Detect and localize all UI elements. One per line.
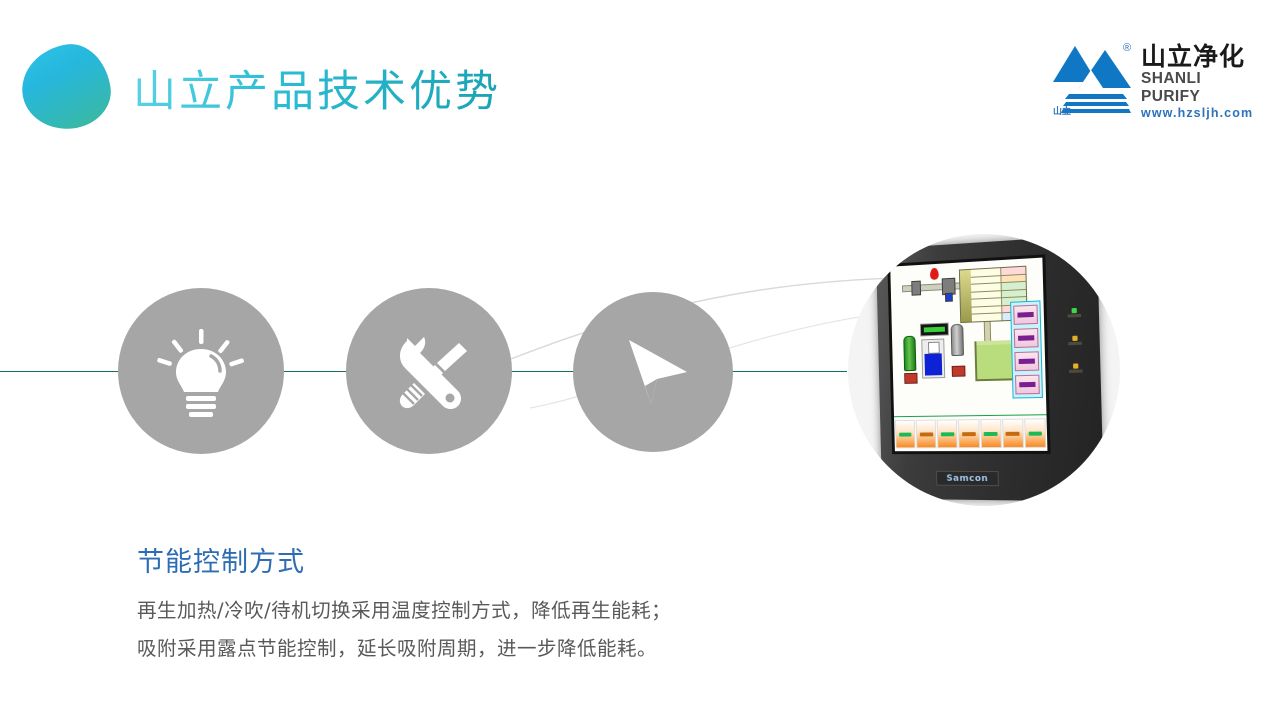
inlet-valve xyxy=(911,281,921,296)
hmi-screen-bezel xyxy=(887,254,1050,454)
power-led xyxy=(1065,308,1082,318)
indicator-led-group xyxy=(1065,308,1084,392)
side-button[interactable] xyxy=(1014,328,1039,348)
pump-right xyxy=(952,366,966,377)
cursor-arrow-icon xyxy=(607,326,699,418)
pump-left xyxy=(904,373,917,384)
digital-readout xyxy=(920,323,949,337)
side-button[interactable] xyxy=(1013,305,1038,325)
hmi-screen[interactable] xyxy=(890,258,1047,452)
toolbar-button[interactable] xyxy=(1002,419,1024,448)
lightbulb-icon xyxy=(153,323,249,419)
run-led xyxy=(1066,335,1083,345)
logo-mark-label: 山立 xyxy=(1053,104,1071,117)
body-line-2: 吸附采用露点节能控制，延长吸附周期，进一步降低能耗。 xyxy=(137,630,857,668)
pressure-indicator xyxy=(930,268,939,280)
icon-circle-tools[interactable] xyxy=(346,288,512,454)
device-brand-plate: Samcon xyxy=(936,471,999,486)
section-body: 再生加热/冷吹/待机切换采用温度控制方式，降低再生能耗； 吸附采用露点节能控制，… xyxy=(137,592,857,668)
decorative-blob xyxy=(17,39,116,134)
toolbar-button[interactable] xyxy=(980,419,1002,448)
control-cabinet xyxy=(921,339,945,379)
tools-icon xyxy=(381,323,477,419)
logo-name-cn: 山立净化 xyxy=(1141,44,1261,70)
side-button[interactable] xyxy=(1015,375,1040,395)
toolbar-button[interactable] xyxy=(895,420,916,448)
body-line-1: 再生加热/冷吹/待机切换采用温度控制方式，降低再生能耗； xyxy=(137,592,857,630)
icon-circle-cursor[interactable] xyxy=(573,292,733,452)
device-brand-label: Samcon xyxy=(946,473,988,483)
hmi-device-body: Samcon xyxy=(876,235,1104,502)
toolbar-button[interactable] xyxy=(937,419,958,448)
hmi-panel-photo: Samcon xyxy=(848,234,1120,506)
icon-circle-lightbulb[interactable] xyxy=(118,288,284,454)
toolbar-button[interactable] xyxy=(958,419,979,448)
logo-website: www.hzsljh.com xyxy=(1141,106,1261,121)
company-logo: ® 山立 山立净化 SHANLI PURIFY www.hzsljh.com xyxy=(1045,38,1260,123)
toolbar-button[interactable] xyxy=(1024,418,1046,448)
side-button[interactable] xyxy=(1014,351,1039,371)
hmi-side-button-panel xyxy=(1010,300,1043,398)
slide-root: 山立产品技术优势 ® 山立 山立净化 SHANLI PURIFY www.hzs… xyxy=(0,0,1280,720)
adsorber-vessel-left xyxy=(903,336,916,372)
registered-mark: ® xyxy=(1123,42,1131,54)
hmi-process-diagram xyxy=(890,258,1046,413)
adsorber-vessel-right xyxy=(951,324,964,356)
logo-name-en: SHANLI PURIFY xyxy=(1141,70,1261,106)
section-heading: 节能控制方式 xyxy=(137,540,305,579)
page-title: 山立产品技术优势 xyxy=(133,57,501,119)
hmi-bottom-toolbar xyxy=(894,414,1047,451)
toolbar-button[interactable] xyxy=(916,420,937,449)
alarm-led xyxy=(1067,363,1084,373)
sensor-block xyxy=(945,293,953,302)
